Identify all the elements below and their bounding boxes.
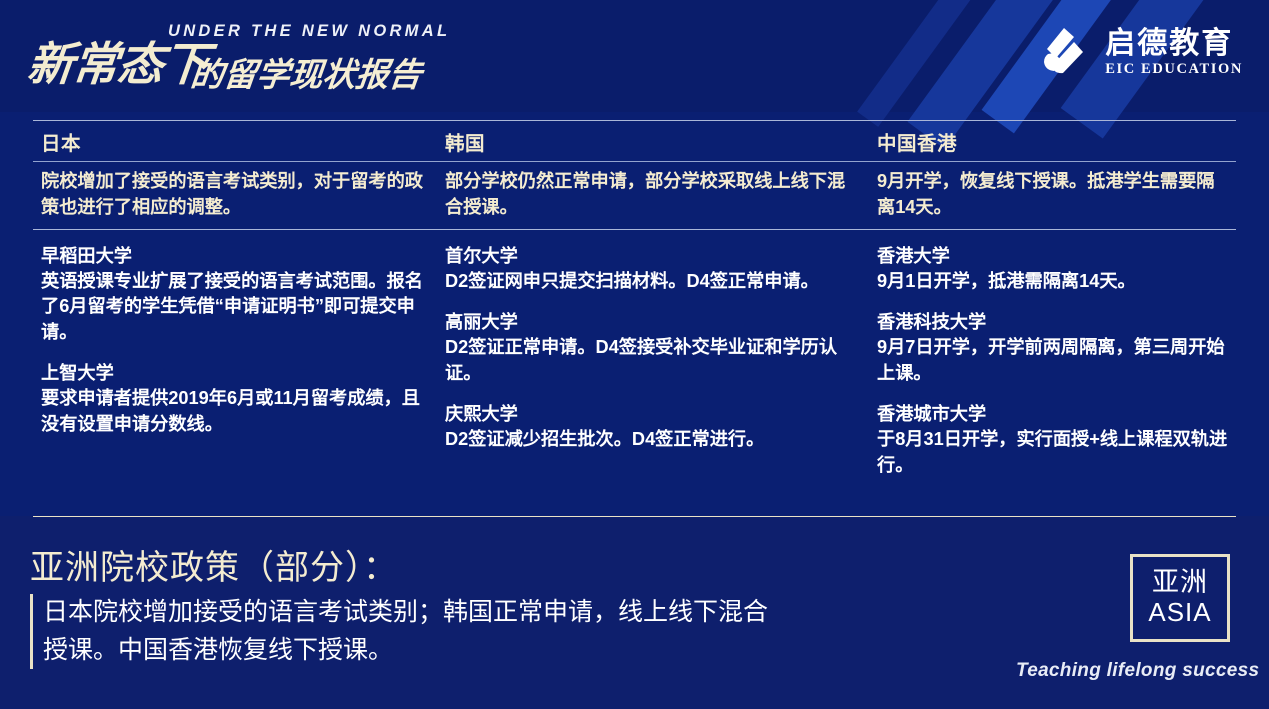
table-header-cell-korea: 韩国 [437,121,869,161]
brand-logo: 启德教育 EIC EDUCATION [1030,22,1243,84]
university-policy: 要求申请者提供2019年6月或11月留考成绩，且没有设置申请分数线。 [41,386,437,437]
column-header-label: 日本 [33,121,425,161]
university-entry: 上智大学 要求申请者提供2019年6月或11月留考成绩，且没有设置申请分数线。 [41,361,437,437]
table-detail-row: 早稻田大学 英语授课专业扩展了接受的语言考试范围。报名了6月留考的学生凭借“申请… [33,230,1236,491]
university-entry: 庆熙大学 D2签证减少招生批次。D4签正常进行。 [445,402,869,453]
university-policy: D2签证减少招生批次。D4签正常进行。 [445,427,869,452]
university-name: 高丽大学 [445,310,869,335]
table-header-cell-hongkong: 中国香港 [869,121,1236,161]
table-detail-cell-hongkong: 香港大学 9月1日开学，抵港需隔离14天。 香港科技大学 9月7日开学，开学前两… [869,230,1236,491]
brand-text: 启德教育 EIC EDUCATION [1105,28,1243,79]
university-name: 早稻田大学 [41,244,437,269]
university-name: 香港城市大学 [877,402,1236,427]
university-entry: 香港城市大学 于8月31日开学，实行面授+线上课程双轨进行。 [877,402,1236,478]
asia-badge-cn: 亚洲 [1152,569,1208,596]
table-header-row: 日本 韩国 中国香港 [33,121,1236,161]
asia-badge: 亚洲 ASIA [1130,554,1230,642]
slide-header: 新常态下 的留学现状报告 UNDER THE NEW NORMAL 启德教育 E… [0,0,1269,112]
university-entry: 香港大学 9月1日开学，抵港需隔离14天。 [877,244,1236,295]
summary-text: 部分学校仍然正常申请，部分学校采取线上线下混合授课。 [437,162,857,229]
accent-bar [30,594,33,669]
table-header-cell-japan: 日本 [33,121,437,161]
column-header-label: 韩国 [437,121,857,161]
university-policy: 于8月31日开学，实行面授+线上课程双轨进行。 [877,427,1236,478]
table-summary-cell-korea: 部分学校仍然正常申请，部分学校采取线上线下混合授课。 [437,162,869,229]
university-entry: 高丽大学 D2签证正常申请。D4签接受补交毕业证和学历认证。 [445,310,869,386]
bottom-heading: 亚洲院校政策（部分）： [30,540,398,589]
table-detail-cell-japan: 早稻田大学 英语授课专业扩展了接受的语言考试范围。报名了6月留考的学生凭借“申请… [33,230,437,491]
bottom-summary-text: 日本院校增加接受的语言考试类别；韩国正常申请，线上线下混合授课。中国香港恢复线下… [43,594,790,669]
column-header-label: 中国香港 [869,121,1224,161]
summary-text: 9月开学，恢复线下授课。抵港学生需要隔离14天。 [869,162,1224,229]
brand-tagline: Teaching lifelong success [1016,660,1259,682]
summary-text: 院校增加了接受的语言考试类别，对于留考的政策也进行了相应的调整。 [33,162,425,229]
table-summary-row: 院校增加了接受的语言考试类别，对于留考的政策也进行了相应的调整。 部分学校仍然正… [33,162,1236,229]
title-en: UNDER THE NEW NORMAL [168,22,450,41]
university-entry: 香港科技大学 9月7日开学，开学前两周隔离，第三周开始上课。 [877,310,1236,386]
university-entry: 早稻田大学 英语授课专业扩展了接受的语言考试范围。报名了6月留考的学生凭借“申请… [41,244,437,346]
brand-name-cn: 启德教育 [1105,28,1233,60]
university-policy: D2签证网申只提交扫描材料。D4签正常申请。 [445,269,869,294]
university-policy: 9月7日开学，开学前两周隔离，第三周开始上课。 [877,335,1236,386]
table-detail-cell-korea: 首尔大学 D2签证网申只提交扫描材料。D4签正常申请。 高丽大学 D2签证正常申… [437,230,869,491]
university-name: 香港科技大学 [877,310,1236,335]
university-name: 庆熙大学 [445,402,869,427]
title-cn-secondary: 的留学现状报告 [188,48,424,96]
table-summary-cell-hongkong: 9月开学，恢复线下授课。抵港学生需要隔离14天。 [869,162,1236,229]
bottom-divider [33,516,1236,517]
policy-table: 日本 韩国 中国香港 院校增加了接受的语言考试类别，对于留考的政策也进行了相应的… [33,120,1236,490]
university-name: 首尔大学 [445,244,869,269]
brand-name-en: EIC EDUCATION [1105,61,1243,78]
table-summary-cell-japan: 院校增加了接受的语言考试类别，对于留考的政策也进行了相应的调整。 [33,162,437,229]
university-name: 香港大学 [877,244,1236,269]
university-entry: 首尔大学 D2签证网申只提交扫描材料。D4签正常申请。 [445,244,869,295]
university-policy: D2签证正常申请。D4签接受补交毕业证和学历认证。 [445,335,869,386]
eic-swirl-logo-icon [1030,22,1092,84]
university-policy: 9月1日开学，抵港需隔离14天。 [877,269,1236,294]
asia-badge-en: ASIA [1148,598,1211,627]
university-name: 上智大学 [41,361,437,386]
bottom-body: 日本院校增加接受的语言考试类别；韩国正常申请，线上线下混合授课。中国香港恢复线下… [30,594,790,669]
university-policy: 英语授课专业扩展了接受的语言考试范围。报名了6月留考的学生凭借“申请证明书”即可… [41,269,437,345]
slide-root: 新常态下 的留学现状报告 UNDER THE NEW NORMAL 启德教育 E… [0,0,1269,709]
